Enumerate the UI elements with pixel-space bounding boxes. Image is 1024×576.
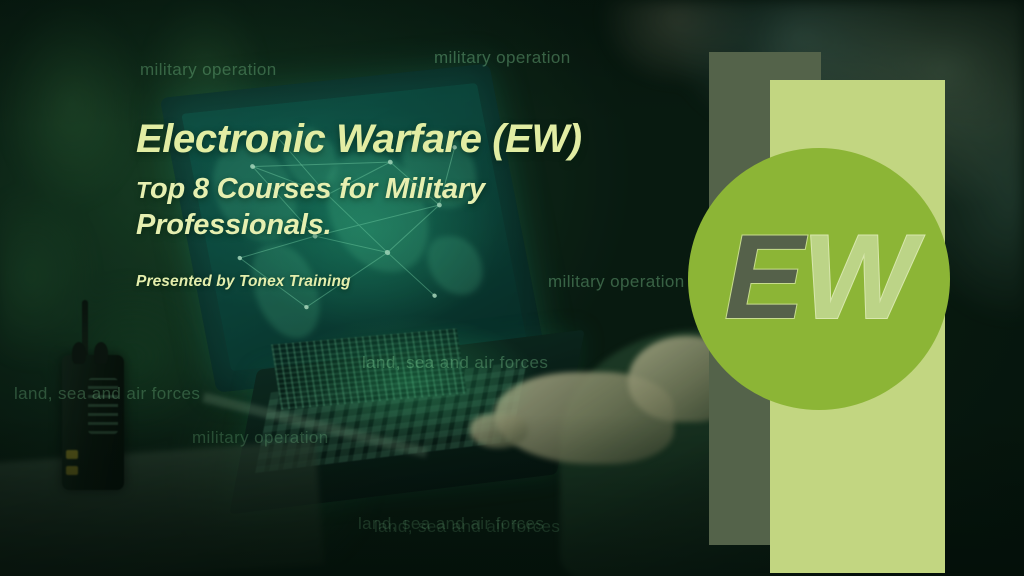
watermark-text: land, sea and air forces bbox=[362, 353, 548, 373]
watermark-text: land, sea and air forces bbox=[374, 517, 560, 537]
presenter-credit: Presented by Tonex Training bbox=[136, 273, 676, 291]
watermark-text: military operation bbox=[192, 428, 329, 448]
page-subtitle: Top 8 Courses for Military Professionals… bbox=[136, 172, 536, 243]
watermark-text: military operation bbox=[140, 60, 277, 80]
watermark-text: military operation bbox=[434, 48, 571, 68]
subtitle-initial: T bbox=[136, 177, 150, 203]
slide-canvas: military operationmilitary operationmili… bbox=[0, 0, 1024, 576]
page-title: Electronic Warfare (EW) bbox=[136, 118, 676, 161]
ew-logo: EW bbox=[688, 148, 950, 410]
title-block: Electronic Warfare (EW) Top 8 Courses fo… bbox=[136, 118, 676, 291]
watermark-text: land, sea and air forces bbox=[14, 384, 200, 404]
ew-logo-letter-e: E bbox=[724, 217, 802, 337]
subtitle-rest: op 8 Courses for Military Professionals. bbox=[136, 173, 485, 240]
ew-logo-text: EW bbox=[724, 217, 913, 337]
ew-logo-letter-w: W bbox=[802, 217, 913, 337]
